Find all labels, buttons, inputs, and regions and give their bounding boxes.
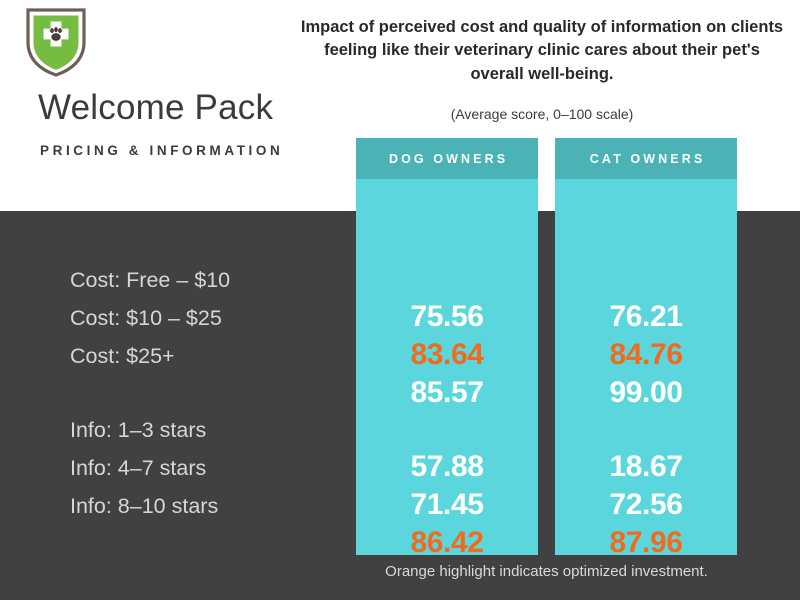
value-dog-info-4-7: 71.45: [356, 490, 538, 520]
column-header-label: DOG OWNERS: [386, 152, 508, 166]
chart-subtitle: (Average score, 0–100 scale): [296, 106, 788, 122]
value-dog-cost-10-25: 83.64: [356, 340, 538, 370]
value-cat-cost-free-10: 76.21: [555, 302, 737, 332]
brand-title: Welcome Pack: [38, 88, 273, 128]
column-header-label: CAT OWNERS: [587, 152, 706, 166]
value-cat-cost-25-plus: 99.00: [555, 378, 737, 408]
value-cat-info-1-3: 18.67: [555, 452, 737, 482]
value-cat-cost-10-25: 84.76: [555, 340, 737, 370]
value-dog-info-8-10: 86.42: [356, 528, 538, 558]
value-cat-info-8-10: 87.96: [555, 528, 737, 558]
column-dog-owners: DOG OWNERS 75.56 83.64 85.57 57.88 71.45…: [356, 138, 538, 555]
footnote-legend: Orange highlight indicates optimized inv…: [356, 563, 737, 580]
column-values-cat-owners: 76.21 84.76 99.00 18.67 72.56 87.96: [555, 179, 737, 555]
row-label-info-1-3: Info: 1–3 stars: [70, 418, 206, 443]
row-label-cost-free-10: Cost: Free – $10: [70, 268, 230, 293]
row-label-info-4-7: Info: 4–7 stars: [70, 456, 206, 481]
chart-title: Impact of perceived cost and quality of …: [296, 16, 788, 86]
value-dog-cost-25-plus: 85.57: [356, 378, 538, 408]
column-cat-owners: CAT OWNERS 76.21 84.76 99.00 18.67 72.56…: [555, 138, 737, 555]
value-dog-info-1-3: 57.88: [356, 452, 538, 482]
brand-subtitle: PRICING & INFORMATION: [40, 143, 283, 158]
column-header-cat-owners: CAT OWNERS: [555, 138, 737, 179]
column-values-dog-owners: 75.56 83.64 85.57 57.88 71.45 86.42: [356, 179, 538, 555]
brand-block: Welcome Pack PRICING & INFORMATION: [0, 0, 330, 211]
value-cat-info-4-7: 72.56: [555, 490, 737, 520]
infographic-poster: Welcome Pack PRICING & INFORMATION Impac…: [0, 0, 800, 600]
vet-shield-paw-cross-icon: [25, 6, 87, 78]
row-label-cost-10-25: Cost: $10 – $25: [70, 306, 222, 331]
value-dog-cost-free-10: 75.56: [356, 302, 538, 332]
row-label-cost-25-plus: Cost: $25+: [70, 344, 175, 369]
column-header-dog-owners: DOG OWNERS: [356, 138, 538, 179]
row-label-info-8-10: Info: 8–10 stars: [70, 494, 218, 519]
